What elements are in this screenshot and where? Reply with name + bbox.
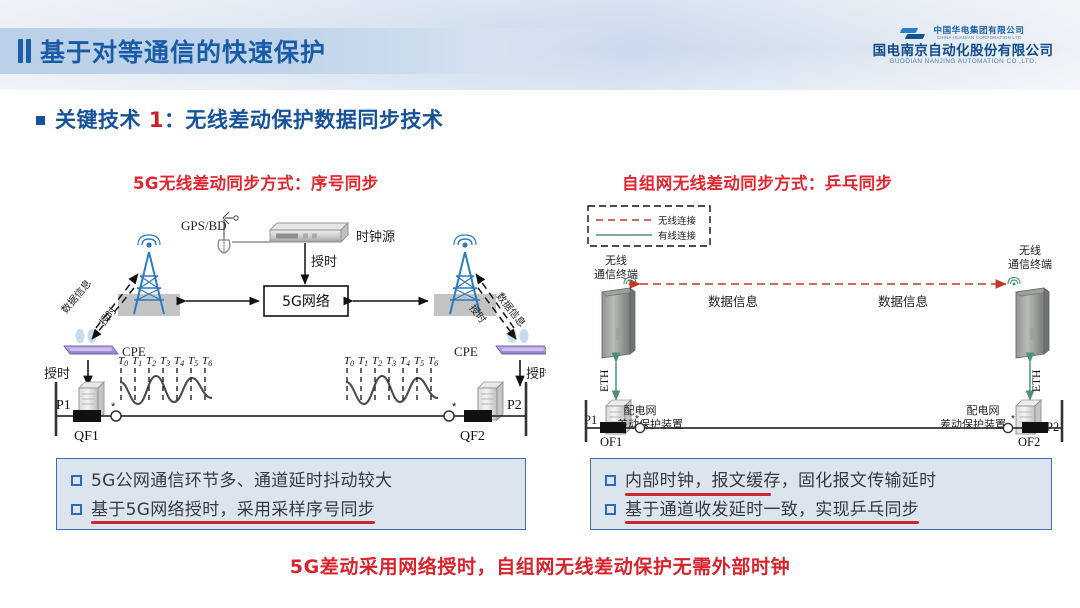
left-eth-label: ETH [599,370,611,392]
slide-root: 基于对等通信的快速保护 中国华电集团有限公司 CHINA HUADIAN COR… [0,0,1080,608]
qf2-breaker-icon [464,410,492,422]
left-device-label-1: 配电网 [624,404,657,417]
legend-wireless-label: 无线连接 [658,215,697,227]
logo-company-en: GUODIAN NANJING AUTOMATION CO.,LTD. [858,58,1068,66]
qf2-label: QF2 [460,429,485,444]
svg-text:T4: T4 [174,355,184,368]
left-data-info-label: 数据信息 [58,277,94,316]
section-heading-text: 关键技术 1：无线差动保护数据同步技术 [55,104,443,134]
qf1-label: QF1 [74,429,99,444]
ct1-asterisk-r: * [635,414,639,425]
ct1-asterisk: * [111,401,116,413]
huadian-mark-icon [901,27,927,40]
checkbox-square-icon [605,504,616,515]
list-item: 5G公网通信环节多、通道延时抖动较大 [71,469,511,494]
qf2-label-r: QF2 [1018,435,1040,446]
svg-text:T2: T2 [372,355,382,368]
gps-label: GPS/BD [181,218,227,233]
right-terminal-wifi-icon [1008,278,1020,286]
right-terminal-label-1: 无线 [1019,243,1041,257]
right-bullet-2: 基于通道收发延时一致，实现乒乓同步 [625,498,919,523]
left-panel-title: 5G无线差动同步方式：序号同步 [133,170,379,194]
logo-company-cn: 国电南京自动化股份有限公司 [858,43,1068,59]
right-eth-label: ETH [1031,370,1043,392]
svg-text:T6: T6 [202,355,212,368]
left-bullet-2: 基于5G网络授时，采用采样序号同步 [91,498,375,523]
p2-label: P2 [507,398,522,413]
right-cpe-label: CPE [454,344,478,359]
left-waveform: T0 T1 T2 T3 T4 T5 T6 [118,355,212,404]
conclusion-text: 5G差动采用网络授时，自组网无线差动保护无需外部时钟 [0,552,1080,579]
logo-parent-text: 中国华电集团有限公司 CHINA HUADIAN CORPORATION LTD [933,26,1024,41]
logo-parent-cn: 中国华电集团有限公司 [933,26,1024,35]
svg-text:T5: T5 [414,355,424,368]
company-logo: 中国华电集团有限公司 CHINA HUADIAN CORPORATION LTD… [858,26,1068,66]
left-device-label-2: 差动保护装置 [617,417,683,431]
svg-text:T3: T3 [386,355,396,368]
heading-number: 1 [149,108,164,132]
timing-label-top: 授时 [311,255,337,270]
network-label: 5G网络 [282,294,330,310]
heading-prefix: 关键技术 [55,108,149,132]
right-diagram: 无线连接 有线连接 无线 通信终端 无线 通信终端 [578,196,1070,446]
qf2-breaker-icon-r [1022,422,1048,433]
qf1-label-r: QF1 [600,435,622,446]
clock-source-label: 时钟源 [356,229,395,244]
logo-top-row: 中国华电集团有限公司 CHINA HUADIAN CORPORATION LTD [858,26,1068,41]
left-terminal-label-1: 无线 [605,253,627,267]
list-item: 内部时钟，报文缓存，固化报文传输延时 [605,469,1037,494]
left-bullet-box: 5G公网通信环节多、通道延时抖动较大 基于5G网络授时，采用采样序号同步 [56,458,526,530]
legend-wired-label: 有线连接 [658,230,697,242]
right-wireless-terminal-icon [1016,288,1049,358]
svg-text:T2: T2 [146,355,156,368]
right-bullet-1: 内部时钟，报文缓存，固化报文传输延时 [625,469,936,494]
svg-text:T3: T3 [160,355,170,368]
right-device-label-1: 配电网 [967,404,1000,417]
section-heading: 关键技术 1：无线差动保护数据同步技术 [36,104,443,134]
svg-text:T6: T6 [428,355,438,368]
svg-text:T4: T4 [400,355,410,368]
ct2-asterisk: * [452,401,457,413]
title-bars-icon [18,39,31,63]
bullet-square-icon [36,116,45,125]
list-item: 基于5G网络授时，采用采样序号同步 [71,498,511,523]
svg-text:T5: T5 [188,355,198,368]
right-timing-label2: 授时 [526,367,546,382]
right-panel-title: 自组网无线差动同步方式：乒乓同步 [622,170,892,194]
left-diagram: GPS/BD 时钟源 授时 5G网络 [26,196,546,446]
left-terminal-label-2: 通信终端 [594,267,638,281]
left-data-info-label-r: 数据信息 [708,294,758,309]
page-title-row: 基于对等通信的快速保护 [18,30,326,72]
qf1-breaker-icon [73,410,101,422]
ct2-asterisk-r: * [1011,414,1015,425]
checkbox-square-icon [605,475,616,486]
logo-parent-en: CHINA HUADIAN CORPORATION LTD [933,35,1024,40]
clock-source-icon [270,223,348,242]
heading-suffix: ：无线差动保护数据同步技术 [164,108,444,132]
qf1-breaker-icon-r [600,422,626,433]
right-data-info-label-r: 数据信息 [878,294,928,309]
right-bullet-box: 内部时钟，报文缓存，固化报文传输延时 基于通道收发延时一致，实现乒乓同步 [590,458,1052,530]
left-bullet-1: 5G公网通信环节多、通道延时抖动较大 [91,469,392,494]
left-timing-label2: 授时 [44,367,70,382]
right-cpe-icon [496,329,546,354]
svg-text:T1: T1 [358,355,368,368]
checkbox-square-icon [71,475,82,486]
right-base-station-icon [434,235,496,316]
left-wireless-terminal-icon [602,288,635,358]
p1-label: P1 [56,398,71,413]
left-cpe-icon [64,329,118,354]
right-terminal-label-2: 通信终端 [1008,257,1052,271]
svg-text:T0: T0 [344,355,354,368]
checkbox-square-icon [71,504,82,515]
left-base-station-icon [118,235,180,316]
right-device-label-2: 差动保护装置 [940,417,1006,431]
page-title: 基于对等通信的快速保护 [40,33,326,69]
right-waveform: T0 T1 T2 T3 T4 T5 T6 [344,355,438,404]
list-item: 基于通道收发延时一致，实现乒乓同步 [605,498,1037,523]
